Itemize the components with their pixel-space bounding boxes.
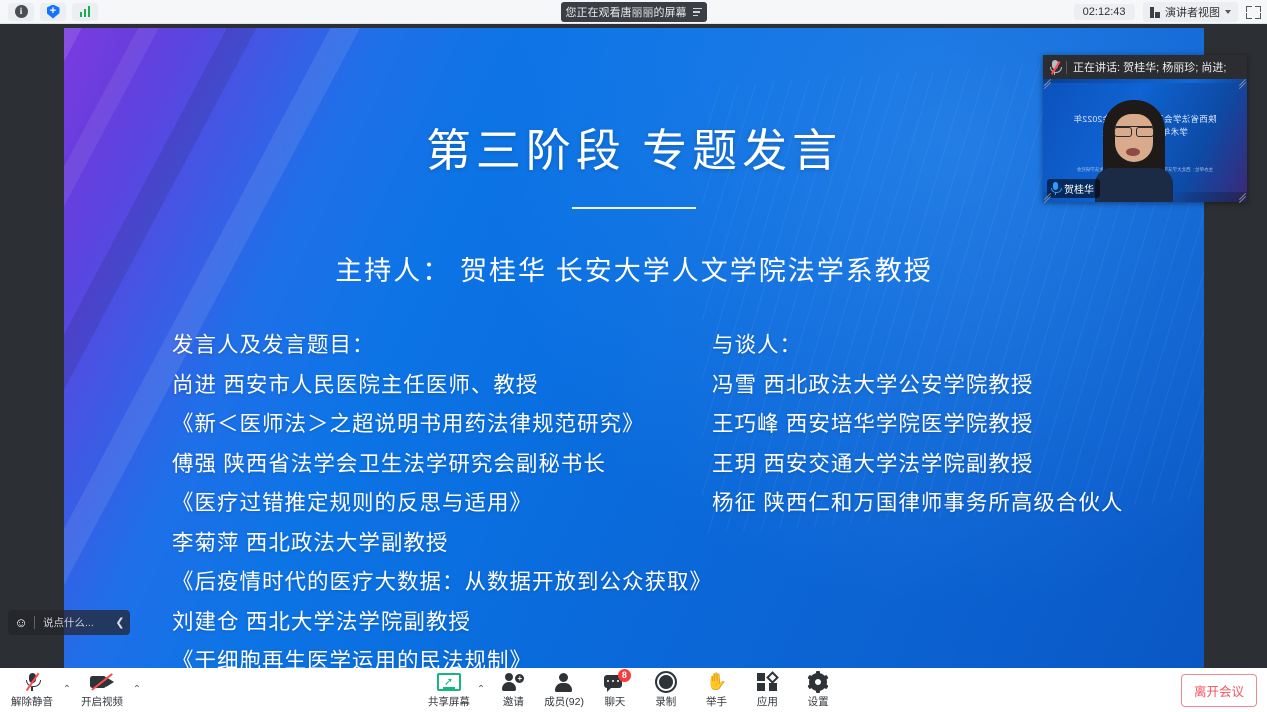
network-status-button[interactable]	[72, 3, 98, 21]
floating-chat-bar[interactable]: ☺ 说点什么... ❮	[8, 610, 130, 635]
mic-muted-icon	[24, 672, 40, 692]
invite-person-icon: +	[502, 672, 524, 692]
screen-share-notice[interactable]: 您正在观看唐丽丽的屏幕	[561, 2, 707, 22]
apps-label: 应用	[757, 694, 778, 709]
gear-icon	[809, 672, 827, 692]
members-button[interactable]: 成员(92)	[539, 668, 590, 712]
speaker-nameplate: 贺桂华	[1047, 179, 1100, 198]
toolbar-right-group: 离开会议	[1181, 668, 1257, 712]
apps-grid-icon	[757, 672, 777, 692]
share-screen-label: 共享屏幕	[428, 694, 470, 709]
view-mode-label: 演讲者视图	[1165, 4, 1220, 20]
slide-title: 第三阶段 专题发言	[64, 114, 1204, 179]
video-feed[interactable]: 陕西省法学会卫生法学研究会2022年 学术年会暨"……"论坛 主办单位：西北大学…	[1043, 79, 1247, 202]
record-label: 录制	[655, 694, 676, 709]
speaker-line: 《后疫情时代的医疗大数据：从数据开放到公众获取》	[172, 563, 712, 603]
top-bar-right: 02:12:43 演讲者视图	[1074, 0, 1261, 24]
speaker-video-panel[interactable]: 正在讲话: 贺桂华; 杨丽珍; 尚进; 陕西省法学会卫生法学研究会2022年 学…	[1043, 55, 1247, 202]
shield-icon	[47, 5, 60, 19]
slide-host-line: 主持人： 贺桂华 长安大学人文学院法学系教授	[64, 249, 1204, 288]
top-bar: i 您正在观看唐丽丽的屏幕 02:12:43 演讲者视图	[0, 0, 1267, 24]
speaking-label: 正在讲话: 贺桂华; 杨丽珍; 尚进;	[1073, 59, 1226, 75]
share-options-chevron[interactable]: ⌃	[474, 668, 488, 712]
emoji-icon[interactable]: ☺	[8, 615, 34, 630]
video-options-chevron[interactable]: ⌃	[130, 668, 144, 712]
speaking-indicator-bar: 正在讲话: 贺桂华; 杨丽珍; 尚进;	[1043, 55, 1247, 79]
network-signal-icon	[80, 6, 91, 17]
meeting-toolbar: 解除静音 ⌃ 开启视频 ⌃ ➚ 共享屏幕 ⌃ + 邀请	[0, 668, 1267, 712]
raised-hand-icon: ✋	[706, 672, 727, 692]
speaker-name: 贺桂华	[1064, 181, 1094, 196]
start-video-button[interactable]: 开启视频	[76, 668, 128, 712]
leave-meeting-button[interactable]: 离开会议	[1181, 674, 1257, 707]
record-button[interactable]: 录制	[640, 668, 691, 712]
apps-button[interactable]: 应用	[742, 668, 793, 712]
toolbar-center-group: ➚ 共享屏幕 ⌃ + 邀请 成员(92) 8	[424, 668, 844, 712]
resize-handle-top-left[interactable]	[1043, 79, 1052, 88]
meeting-timer: 02:12:43	[1074, 4, 1135, 20]
members-label: 成员(92)	[544, 694, 584, 709]
shared-slide: 第三阶段 专题发言 主持人： 贺桂华 长安大学人文学院法学系教授 发言人及发言题…	[64, 28, 1204, 668]
discussant-line: 杨征 陕西仁和万国律师事务所高级合伙人	[712, 484, 1184, 524]
discussants-column: 与谈人： 冯雪 西北政法大学公安学院教授 王巧峰 西安培华学院医学院教授 王玥 …	[712, 326, 1184, 668]
resize-handle-bottom-left[interactable]	[1043, 193, 1052, 202]
info-button[interactable]: i	[8, 3, 34, 21]
chat-input[interactable]: 说点什么...	[35, 615, 110, 630]
settings-button[interactable]: 设置	[793, 668, 844, 712]
chat-label: 聊天	[604, 694, 625, 709]
menu-icon[interactable]	[693, 8, 702, 17]
speaker-line: 《干细胞再生医学运用的民法规制》	[172, 642, 712, 668]
invite-button[interactable]: + 邀请	[488, 668, 539, 712]
speaker-line: 《新＜医师法＞之超说明书用药法律规范研究》	[172, 405, 712, 445]
chat-button[interactable]: 8 聊天	[590, 668, 641, 712]
screen-share-notice-label: 您正在观看唐丽丽的屏幕	[566, 4, 687, 20]
unmute-button[interactable]: 解除静音	[6, 668, 58, 712]
discussant-line: 王玥 西安交通大学法学院副教授	[712, 445, 1184, 485]
info-icon: i	[15, 5, 28, 18]
speakers-column: 发言人及发言题目： 尚进 西安市人民医院主任医师、教授 《新＜医师法＞之超说明书…	[172, 326, 712, 668]
invite-label: 邀请	[503, 694, 524, 709]
discussants-heading: 与谈人：	[712, 326, 1184, 366]
participants-icon	[554, 672, 574, 692]
speaker-view-icon	[1150, 7, 1161, 18]
toolbar-left-group: 解除静音 ⌃ 开启视频 ⌃	[6, 668, 144, 712]
slide-columns: 发言人及发言题目： 尚进 西安市人民医院主任医师、教授 《新＜医师法＞之超说明书…	[64, 326, 1204, 668]
discussant-line: 冯雪 西北政法大学公安学院教授	[712, 366, 1184, 406]
raise-hand-button[interactable]: ✋ 举手	[691, 668, 742, 712]
speaker-avatar	[1095, 100, 1173, 202]
resize-handle-top-right[interactable]	[1238, 79, 1247, 88]
unmute-label: 解除静音	[11, 694, 53, 709]
speaker-line: 《医疗过错推定规则的反思与适用》	[172, 484, 712, 524]
resize-handle-bottom-right[interactable]	[1238, 193, 1247, 202]
share-screen-icon: ➚	[437, 672, 461, 692]
speaker-line: 傅强 陕西省法学会卫生法学研究会副秘书长	[172, 445, 712, 485]
speaker-line: 李菊萍 西北政法大学副教授	[172, 524, 712, 564]
speaker-line: 刘建仓 西北大学法学院副教授	[172, 603, 712, 643]
mic-active-icon	[1051, 182, 1060, 195]
chevron-left-icon[interactable]: ❮	[110, 616, 130, 629]
top-bar-left-icons: i	[0, 3, 98, 21]
camera-off-icon	[90, 672, 114, 692]
settings-label: 设置	[808, 694, 829, 709]
discussant-line: 王巧峰 西安培华学院医学院教授	[712, 405, 1184, 445]
audio-options-chevron[interactable]: ⌃	[60, 668, 74, 712]
share-screen-button[interactable]: ➚ 共享屏幕	[423, 668, 474, 712]
security-button[interactable]	[40, 3, 66, 21]
mic-muted-icon	[1049, 60, 1060, 75]
view-mode-selector[interactable]: 演讲者视图	[1143, 2, 1239, 22]
chevron-down-icon	[1225, 10, 1231, 14]
speaker-line: 尚进 西安市人民医院主任医师、教授	[172, 366, 712, 406]
record-icon	[655, 672, 677, 692]
raise-hand-label: 举手	[706, 694, 727, 709]
start-video-label: 开启视频	[81, 694, 123, 709]
chat-bubble-icon: 8	[604, 672, 626, 692]
chat-unread-badge: 8	[618, 669, 631, 682]
title-divider	[572, 207, 696, 209]
speakers-heading: 发言人及发言题目：	[172, 326, 712, 366]
exit-fullscreen-icon[interactable]	[1246, 6, 1261, 19]
meeting-stage: 第三阶段 专题发言 主持人： 贺桂华 长安大学人文学院法学系教授 发言人及发言题…	[0, 24, 1267, 668]
